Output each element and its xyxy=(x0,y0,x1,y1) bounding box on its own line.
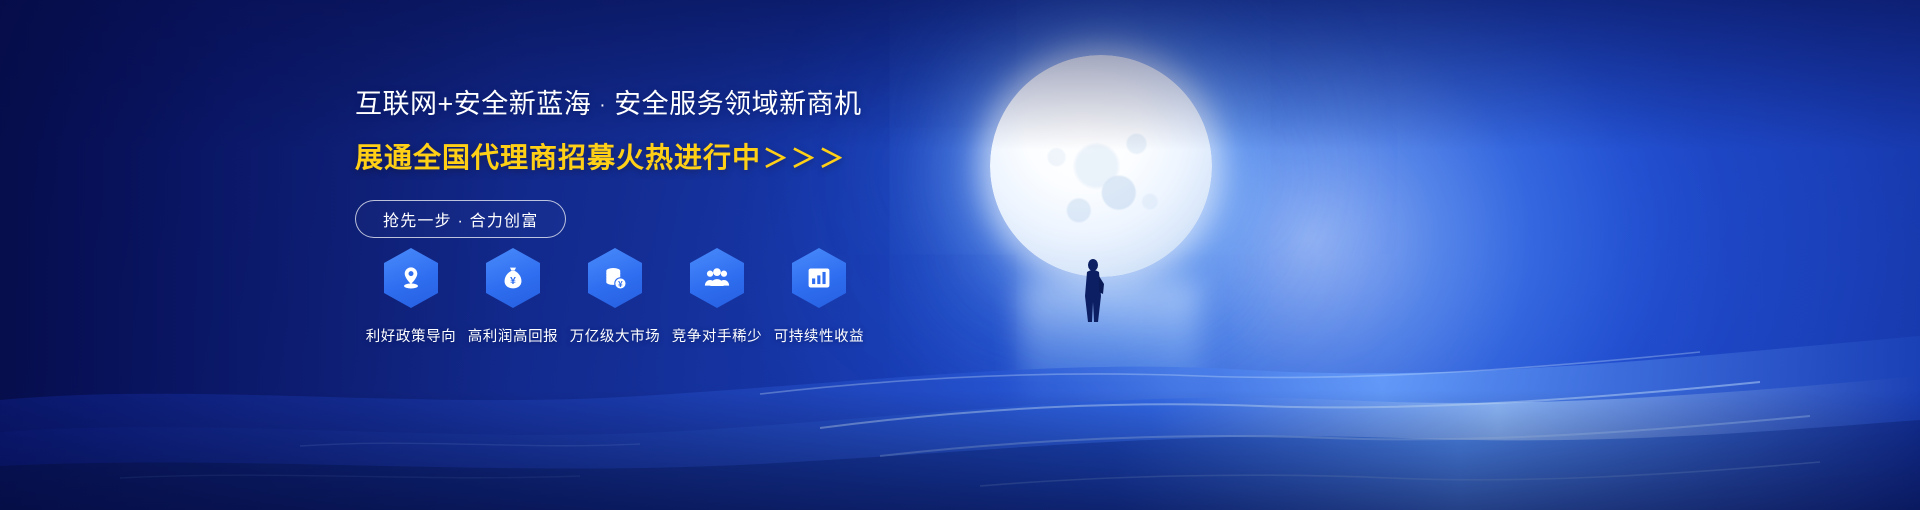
arrows-icon: ＞＞＞ xyxy=(763,145,847,173)
moon-icon xyxy=(990,55,1212,277)
moon-craters xyxy=(990,55,1212,277)
feature-item[interactable]: ¥ 万亿级大市场 xyxy=(564,248,666,346)
feature-label: 万亿级大市场 xyxy=(570,325,661,346)
feature-hex xyxy=(384,248,438,308)
headline: 互联网+安全新蓝海·安全服务领域新商机 xyxy=(355,88,975,122)
banner-content: 互联网+安全新蓝海·安全服务领域新商机 展通全国代理商招募火热进行中＞＞＞ 抢先… xyxy=(355,88,975,238)
headline-part2: 安全服务领域新商机 xyxy=(614,89,862,119)
feature-hex: ¥ xyxy=(588,248,642,308)
feature-item[interactable]: 利好政策导向 xyxy=(360,248,462,346)
feature-label: 可持续性收益 xyxy=(774,325,865,346)
bottom-vignette xyxy=(0,390,1920,510)
money-bag-icon: ¥ xyxy=(498,263,528,293)
feature-item[interactable]: 竞争对手稀少 xyxy=(666,248,768,346)
people-group-icon xyxy=(702,263,732,293)
feature-list: 利好政策导向 ¥ 高利润高回报 xyxy=(360,248,870,346)
feature-label: 竞争对手稀少 xyxy=(672,325,763,346)
feature-label: 利好政策导向 xyxy=(366,325,457,346)
feature-label: 高利润高回报 xyxy=(468,325,559,346)
location-pin-icon xyxy=(396,263,426,293)
bar-chart-icon xyxy=(804,263,834,293)
subheadline-text: 展通全国代理商招募火热进行中 xyxy=(355,142,761,173)
feature-item[interactable]: 可持续性收益 xyxy=(768,248,870,346)
feature-hex: ¥ xyxy=(486,248,540,308)
feature-hex xyxy=(690,248,744,308)
headline-separator: · xyxy=(599,95,606,116)
feature-item[interactable]: ¥ 高利润高回报 xyxy=(462,248,564,346)
svg-text:¥: ¥ xyxy=(510,276,516,287)
moon-glow xyxy=(900,0,1720,510)
headline-part1: 互联网+安全新蓝海 xyxy=(355,89,591,119)
subheadline: 展通全国代理商招募火热进行中＞＞＞ xyxy=(355,136,975,176)
ocean-waves xyxy=(0,250,1920,510)
moon-reflection xyxy=(1020,280,1200,510)
svg-text:¥: ¥ xyxy=(618,280,623,289)
coin-stack-icon: ¥ xyxy=(600,263,630,293)
feature-hex xyxy=(792,248,846,308)
cta-pill-button[interactable]: 抢先一步 · 合力创富 xyxy=(355,200,566,238)
promo-banner: 互联网+安全新蓝海·安全服务领域新商机 展通全国代理商招募火热进行中＞＞＞ 抢先… xyxy=(0,0,1920,510)
